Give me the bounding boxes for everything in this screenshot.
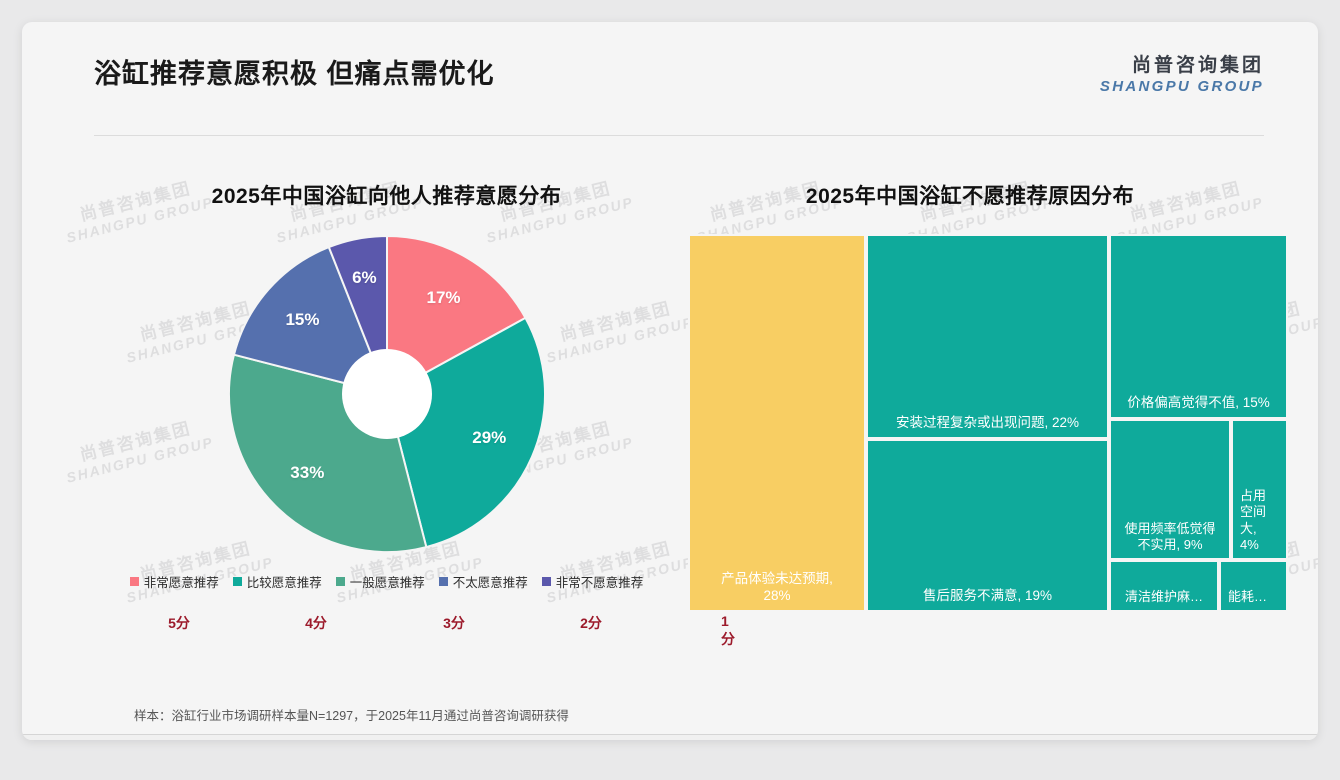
legend-label: 非常愿意推荐 [144,572,219,591]
legend-label: 不太愿意推荐 [453,572,528,591]
treemap-cell-label: 能耗… [1221,589,1286,610]
donut-hole [342,349,432,439]
treemap-chart-panel: 2025年中国浴缸不愿推荐原因分布 产品体验未达预期, 28%安装过程复杂或出现… [690,162,1250,692]
legend-swatch [542,577,551,586]
score-label: 4分 [305,613,327,633]
legend-label: 非常不愿意推荐 [556,572,644,591]
treemap-cell-label: 售后服务不满意, 19% [868,588,1107,610]
treemap-cell-label: 安装过程复杂或出现问题, 22% [868,415,1107,437]
legend-swatch [233,577,242,586]
legend-swatch [336,577,345,586]
legend-item[interactable]: 比较愿意推荐 [233,572,322,591]
donut-slice-label: 17% [426,288,460,308]
score-label: 5分 [168,613,190,633]
treemap-cell[interactable]: 产品体验未达预期, 28% [688,234,866,612]
legend-item[interactable]: 一般愿意推荐 [336,572,425,591]
treemap-chart-title: 2025年中国浴缸不愿推荐原因分布 [690,180,1250,210]
treemap-cell-label: 占用 空间 大, 4% [1233,488,1286,558]
treemap-cell[interactable]: 能耗… [1219,560,1288,612]
logo-chinese-text: 尚普咨询集团 [1100,55,1264,78]
treemap-cell[interactable]: 使用频率低觉得 不实用, 9% [1109,419,1231,560]
page-title: 浴缸推荐意愿积极 但痛点需优化 [94,52,495,91]
treemap-cell-label: 使用频率低觉得 不实用, 9% [1111,521,1229,559]
donut-slice-label: 33% [290,463,324,483]
treemap-chart: 产品体验未达预期, 28%安装过程复杂或出现问题, 22%售后服务不满意, 19… [688,234,1288,612]
logo-english-text: SHANGPU GROUP [1100,78,1264,97]
donut-chart: 17%29%33%15%6% [227,234,547,554]
company-logo: 尚普咨询集团 SHANGPU GROUP [1100,55,1264,97]
sample-note: 样本：浴缸行业市场调研样本量N=1297，于2025年11月通过尚普咨询调研获得 [134,705,569,724]
donut-slice-label: 6% [352,268,377,288]
donut-slice-label: 29% [472,428,506,448]
legend-label: 一般愿意推荐 [350,572,425,591]
legend-label: 比较愿意推荐 [247,572,322,591]
donut-svg [227,234,547,554]
donut-chart-panel: 2025年中国浴缸向他人推荐意愿分布 17%29%33%15%6% 非常愿意推荐… [94,162,679,692]
legend-item[interactable]: 不太愿意推荐 [439,572,528,591]
header-divider [94,135,1264,136]
slide-canvas: 尚普咨询集团SHANGPU GROUP尚普咨询集团SHANGPU GROUP尚普… [22,22,1318,740]
score-row: 5分4分3分2分1分 [94,613,679,635]
score-label: 2分 [580,613,602,633]
legend-item[interactable]: 非常愿意推荐 [130,572,219,591]
treemap-cell-label: 产品体验未达预期, 28% [690,571,864,610]
treemap-cell[interactable]: 价格偏高觉得不值, 15% [1109,234,1288,419]
treemap-cell[interactable]: 售后服务不满意, 19% [866,439,1109,612]
donut-legend: 非常愿意推荐比较愿意推荐一般愿意推荐不太愿意推荐非常不愿意推荐 [94,572,679,591]
legend-swatch [439,577,448,586]
legend-item[interactable]: 非常不愿意推荐 [542,572,644,591]
treemap-cell-label: 清洁维护麻… [1111,589,1217,610]
legend-swatch [130,577,139,586]
donut-slice-label: 15% [285,310,319,330]
donut-chart-title: 2025年中国浴缸向他人推荐意愿分布 [94,180,679,210]
slide-footer: ©2026.1 SHANGPU GROUP www.shangpu-china.… [22,735,1318,740]
score-label: 3分 [443,613,465,633]
treemap-cell[interactable]: 安装过程复杂或出现问题, 22% [866,234,1109,439]
treemap-cell[interactable]: 清洁维护麻… [1109,560,1219,612]
treemap-cell-label: 价格偏高觉得不值, 15% [1111,395,1286,417]
slide-header: 浴缸推荐意愿积极 但痛点需优化 尚普咨询集团 SHANGPU GROUP [22,22,1318,114]
treemap-cell[interactable]: 占用 空间 大, 4% [1231,419,1288,560]
